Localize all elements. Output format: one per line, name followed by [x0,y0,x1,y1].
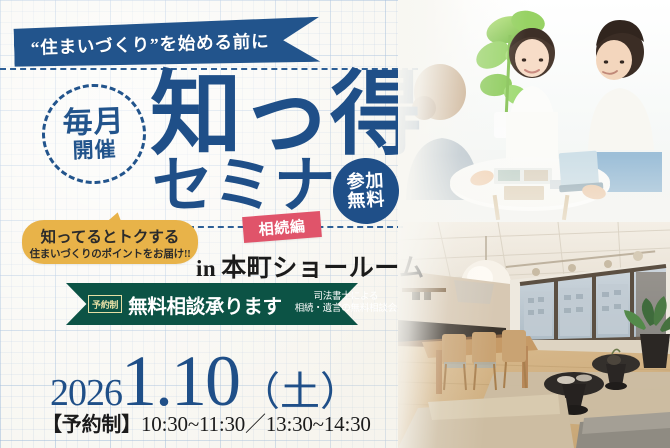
consultation-ribbon: 予約制 無料相談承ります 司法書士による 相続・遺言の無料相談会 [66,283,358,325]
showroom-photo [398,222,670,448]
seminar-title-main: 知っ得 [150,72,420,159]
consultation-photo [398,0,670,222]
consultation-photo-fade [398,0,670,222]
consultation-note-line2: 相続・遺言の無料相談会 [295,304,397,316]
venue-line: in本町ショールーム [196,248,424,284]
venue-name: 本町ショールーム [221,255,424,282]
venue-prefix: in [196,256,216,281]
event-time-prefix: 【予約制】 [42,414,141,436]
monthly-badge-line2: 開催 [72,139,117,162]
monthly-badge-line1: 毎月 [62,106,125,138]
consultation-note: 司法書士による 相続・遺言の無料相談会 [295,292,397,316]
bubble-line2: 住まいづくりのポイントをお届け!! [22,246,198,261]
free-consultation-text: 無料相談承ります [128,290,282,319]
bubble-line1: 知ってるとトクする [22,225,198,247]
tagline-ribbon: “住まいづくり”を始める前に [13,17,320,71]
seminar-banner: “住まいづくり”を始める前に 毎月 開催 知っ得 セミナー 参加 無料 知ってる… [0,0,670,448]
showroom-photo-fade [398,222,670,448]
reservation-required-pill: 予約制 [88,295,122,313]
event-time-slots: 10:30~11:30／13:30~14:30 [141,412,371,436]
event-time: 【予約制】10:30~11:30／13:30~14:30 [42,408,371,438]
free-badge-line2: 無料 [347,190,386,211]
series-tag-label: 相続編 [258,215,306,240]
consultation-ribbon-content: 予約制 無料相談承ります 司法書士による 相続・遺言の無料相談会 [88,283,336,325]
tagline-text: “住まいづくり”を始める前に [13,18,286,71]
consultation-note-line1: 司法書士による [295,292,397,304]
